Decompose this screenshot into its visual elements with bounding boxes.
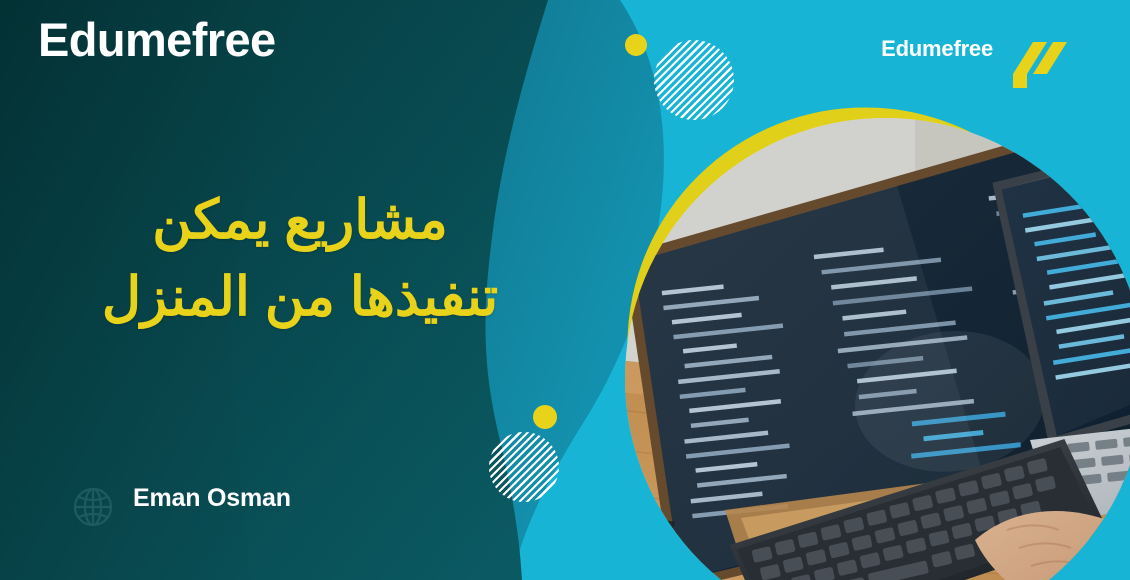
striped-circle-bottom [489, 432, 559, 502]
brand-logo-main: Edumefree [38, 12, 276, 68]
author-name: Eman Osman [133, 484, 291, 513]
edumefree-logo-icon [1003, 28, 1075, 100]
brand-logo-corner: Edumefree [881, 36, 993, 62]
headline: مشاريع يمكن تنفيذها من المنزل [0, 182, 600, 335]
striped-circle-top [654, 40, 734, 120]
hero-photo [625, 118, 1130, 580]
headline-line-2: تنفيذها من المنزل [0, 259, 600, 336]
yellow-dot-top [625, 34, 647, 56]
headline-line-1: مشاريع يمكن [0, 182, 600, 259]
yellow-dot-bottom [533, 405, 557, 429]
globe-icon [71, 485, 115, 529]
workspace-photo-illustration [625, 118, 1130, 580]
banner-canvas: Edumefree Edumefree مشاريع يمكن تنفيذها … [0, 0, 1130, 580]
